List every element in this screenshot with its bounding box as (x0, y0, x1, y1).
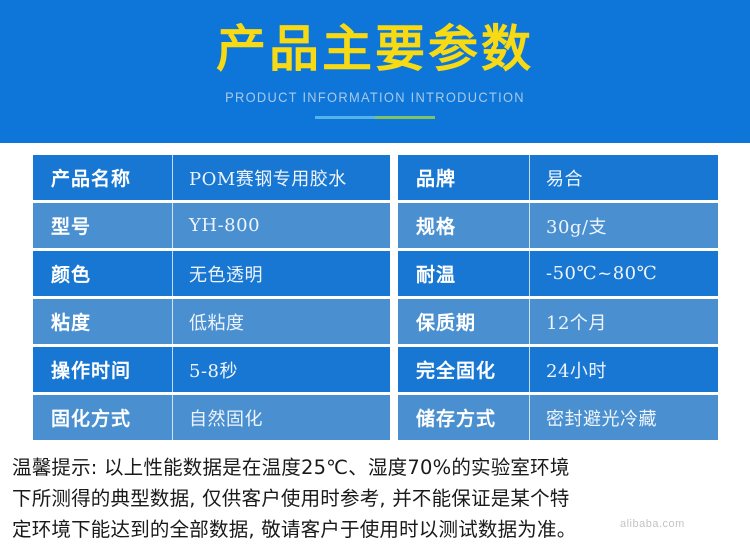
page-subtitle: PRODUCT INFORMATION INTRODUCTION (30, 88, 720, 106)
spec-value: 易合 (530, 155, 718, 200)
table-row: 操作时间 5-8秒 完全固化 24小时 (33, 347, 718, 392)
spec-label: 完全固化 (398, 347, 530, 392)
page-banner: 产品主要参数 PRODUCT INFORMATION INTRODUCTION (0, 0, 750, 143)
spec-pair-right: 保质期 12个月 (398, 299, 718, 344)
table-row: 粘度 低粘度 保质期 12个月 (33, 299, 718, 344)
spec-value: YH-800 (173, 203, 390, 248)
spec-label: 储存方式 (398, 395, 530, 440)
footer-note-line: 定环境下能达到的全部数据, 敬请客户于使用时以测试数据为准。 (12, 514, 742, 545)
spec-pair-left: 产品名称 POM赛钢专用胶水 (33, 155, 390, 200)
spec-value: 12个月 (530, 299, 718, 344)
spec-value: 24小时 (530, 347, 718, 392)
spec-label: 粘度 (33, 299, 173, 344)
spec-value: 自然固化 (173, 395, 390, 440)
spec-value: 密封避光冷藏 (530, 395, 718, 440)
spec-label: 耐温 (398, 251, 530, 296)
spec-pair-left: 颜色 无色透明 (33, 251, 390, 296)
spec-value: 低粘度 (173, 299, 390, 344)
table-row: 颜色 无色透明 耐温 -50℃~80℃ (33, 251, 718, 296)
spec-pair-left: 固化方式 自然固化 (33, 395, 390, 440)
spec-label: 保质期 (398, 299, 530, 344)
footer-note: 温馨提示: 以上性能数据是在温度25℃、湿度70%的实验室环境 下所测得的典型数… (12, 452, 742, 545)
spec-pair-left: 型号 YH-800 (33, 203, 390, 248)
spec-value: 30g/支 (530, 203, 718, 248)
spec-label: 型号 (33, 203, 173, 248)
divider-segment-right (375, 116, 435, 119)
spec-label: 品牌 (398, 155, 530, 200)
spec-pair-left: 操作时间 5-8秒 (33, 347, 390, 392)
spec-value: 无色透明 (173, 251, 390, 296)
product-spec-page: 产品主要参数 PRODUCT INFORMATION INTRODUCTION … (0, 0, 750, 551)
table-row: 固化方式 自然固化 储存方式 密封避光冷藏 (33, 395, 718, 440)
footer-note-line: 温馨提示: 以上性能数据是在温度25℃、湿度70%的实验室环境 (12, 452, 742, 483)
spec-label: 固化方式 (33, 395, 173, 440)
spec-pair-right: 储存方式 密封避光冷藏 (398, 395, 718, 440)
spec-pair-right: 规格 30g/支 (398, 203, 718, 248)
spec-pair-right: 品牌 易合 (398, 155, 718, 200)
spec-label: 产品名称 (33, 155, 173, 200)
spec-value: POM赛钢专用胶水 (173, 155, 390, 200)
title-divider (315, 116, 435, 119)
spec-value: 5-8秒 (173, 347, 390, 392)
spec-label: 规格 (398, 203, 530, 248)
table-row: 产品名称 POM赛钢专用胶水 品牌 易合 (33, 155, 718, 200)
page-title: 产品主要参数 (0, 20, 750, 78)
spec-label: 操作时间 (33, 347, 173, 392)
footer-note-line: 下所测得的典型数据, 仅供客户使用时参考, 并不能保证是某个特 (12, 483, 742, 514)
spec-label: 颜色 (33, 251, 173, 296)
spec-pair-left: 粘度 低粘度 (33, 299, 390, 344)
spec-pair-right: 耐温 -50℃~80℃ (398, 251, 718, 296)
table-row: 型号 YH-800 规格 30g/支 (33, 203, 718, 248)
divider-segment-left (315, 116, 375, 119)
spec-table: 产品名称 POM赛钢专用胶水 品牌 易合 型号 YH-800 规格 30g/支 … (33, 155, 718, 440)
spec-pair-right: 完全固化 24小时 (398, 347, 718, 392)
spec-value: -50℃~80℃ (530, 251, 718, 296)
